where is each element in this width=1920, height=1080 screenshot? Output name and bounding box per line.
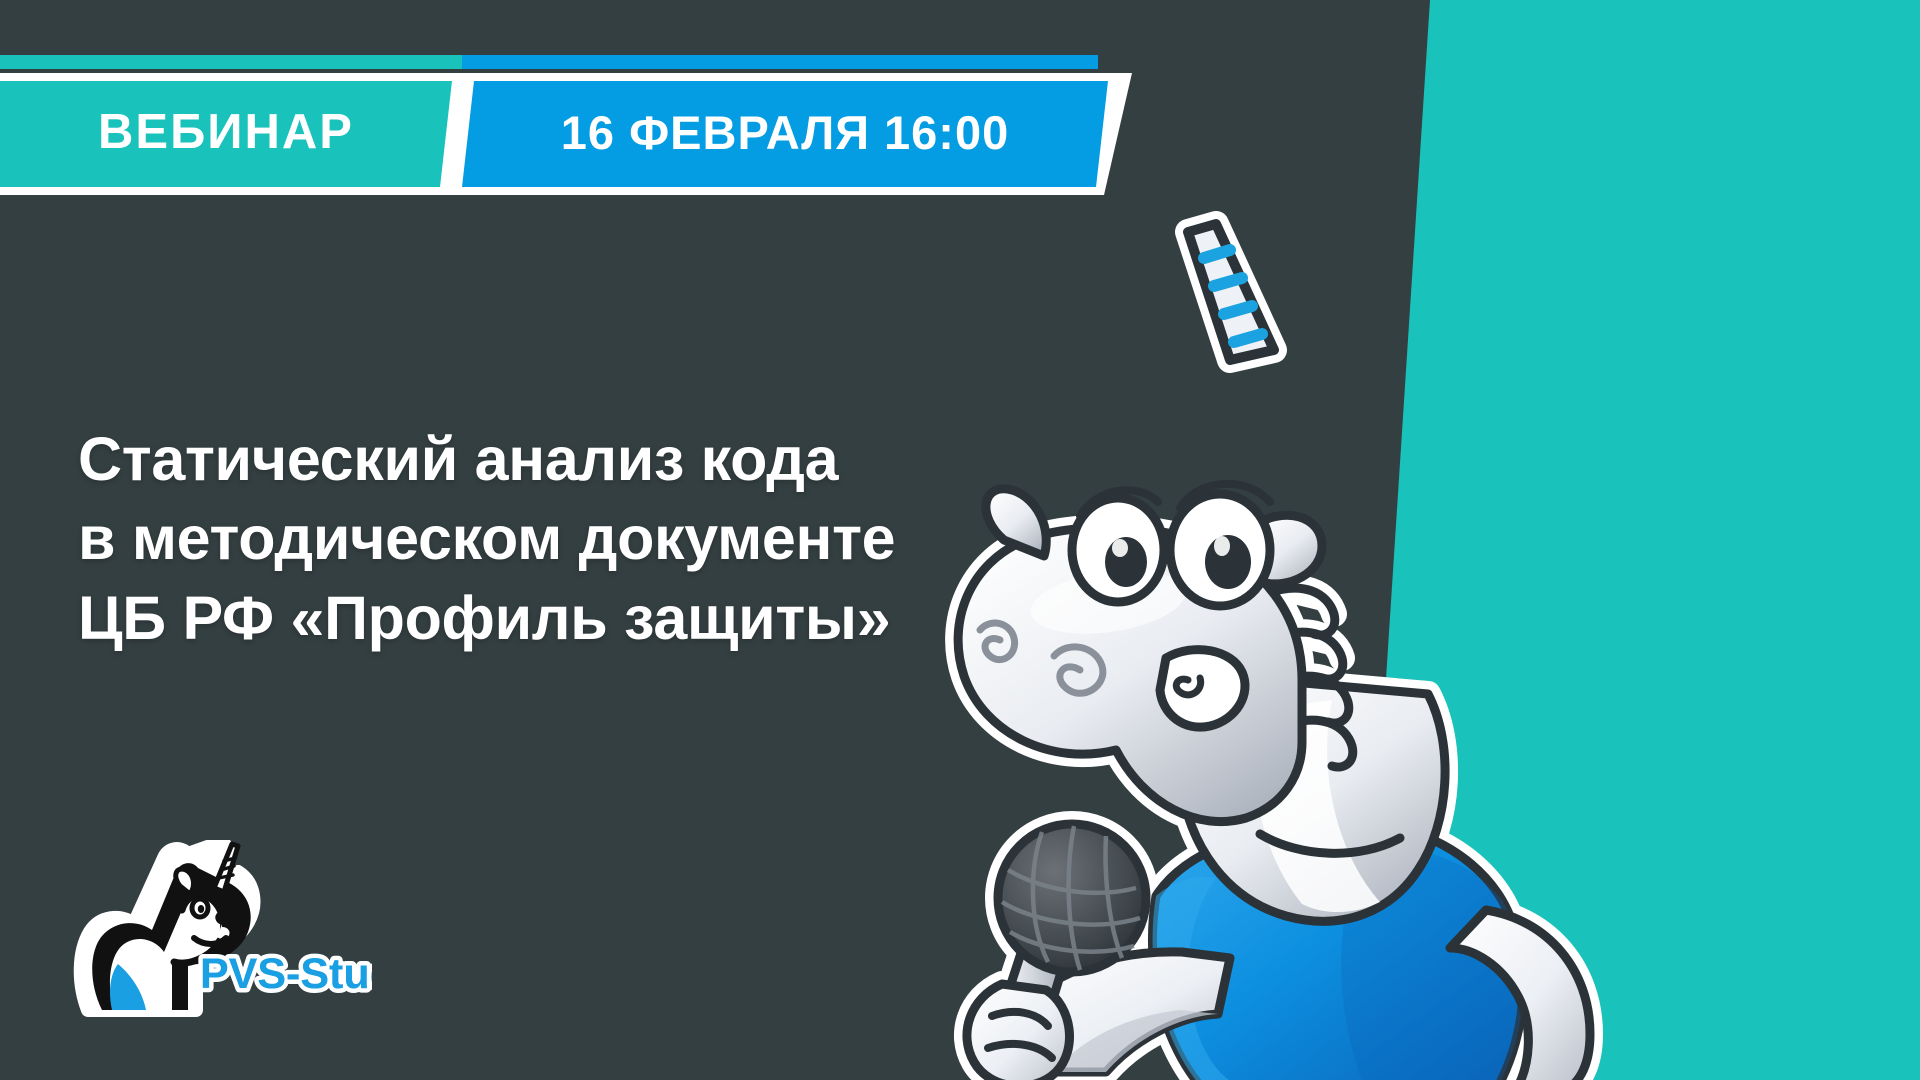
mascot-horn	[1188, 224, 1274, 360]
mascot-mane	[1260, 588, 1353, 767]
ribbon-date-label: 16 ФЕВРАЛЯ 16:00	[561, 109, 1010, 156]
page-title-line-2: в методическом документе	[78, 499, 1138, 578]
mascot-ear-right	[1250, 515, 1322, 584]
ribbon-banner: ВЕБИНАР 16 ФЕВРАЛЯ 16:00	[0, 55, 1140, 195]
mascot-left-arm	[1007, 952, 1230, 1072]
microphone-handle	[994, 950, 1064, 1050]
teal-background-panel	[1360, 0, 1920, 1080]
ribbon-kind-label: ВЕБИНАР	[98, 108, 354, 157]
ribbon-accent-strip-blue	[462, 55, 1098, 69]
ribbon-kind-chip: ВЕБИНАР	[0, 81, 452, 187]
ribbon-accent-strip-teal	[0, 55, 462, 69]
mascot-horn-stripes	[1204, 250, 1262, 342]
mascot-muzzle	[1160, 650, 1245, 728]
mascot-eye-right	[1170, 494, 1270, 606]
microphone-head	[998, 824, 1146, 972]
ribbon-date-chip: 16 ФЕВРАЛЯ 16:00	[462, 81, 1108, 187]
page-title: Статический анализ кода в методическом д…	[78, 420, 1138, 658]
page-title-line-3: ЦБ РФ «Профиль защиты»	[78, 579, 1138, 658]
poster-root: ВЕБИНАР 16 ФЕВРАЛЯ 16:00 Статический ана…	[0, 0, 1920, 1080]
pvs-studio-wordmark: PVS-Studio PVS-Studio	[200, 950, 372, 998]
svg-text:PVS-Studio: PVS-Studio	[200, 950, 372, 998]
mascot-hoof	[967, 984, 1070, 1080]
microphone-mesh	[1002, 826, 1140, 970]
page-title-line-1: Статический анализ кода	[78, 420, 1138, 499]
pvs-studio-logo: PVS-Studio PVS-Studio	[72, 840, 372, 1022]
mascot-finger-lines	[988, 1012, 1052, 1058]
